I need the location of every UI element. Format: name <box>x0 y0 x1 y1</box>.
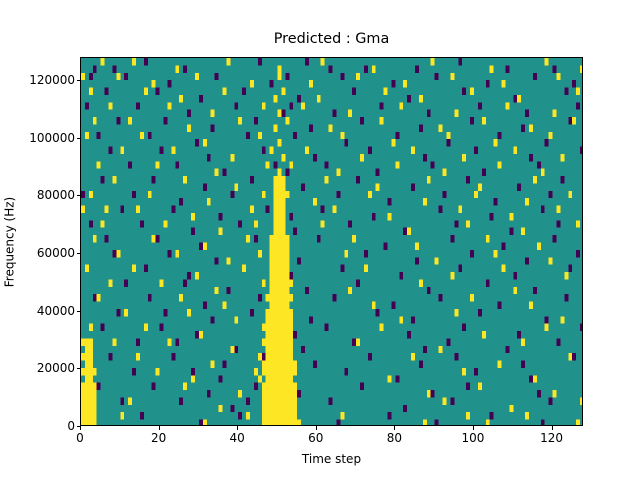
x-tick-mark <box>237 426 238 430</box>
y-tick-label: 120000 <box>29 73 75 87</box>
matplotlib-figure: Predicted : Gma 020406080100120020000400… <box>0 0 640 480</box>
y-tick-mark <box>77 426 81 427</box>
y-tick-mark <box>77 80 81 81</box>
y-tick-mark <box>77 253 81 254</box>
y-tick-label: 20000 <box>37 361 75 375</box>
y-tick-label: 100000 <box>29 131 75 145</box>
x-tick-mark <box>159 426 160 430</box>
page-title: Predicted : Gma <box>80 30 583 48</box>
x-axis-label: Time step <box>80 452 583 466</box>
y-tick-mark <box>77 195 81 196</box>
x-tick-mark <box>316 426 317 430</box>
y-tick-label: 60000 <box>37 246 75 260</box>
y-tick-label: 80000 <box>37 188 75 202</box>
x-tick-mark <box>552 426 553 430</box>
x-tick-label: 60 <box>308 431 323 445</box>
y-tick-label: 40000 <box>37 304 75 318</box>
x-tick-mark <box>80 426 81 430</box>
heatmap-image <box>81 58 583 426</box>
x-tick-label: 80 <box>387 431 402 445</box>
x-tick-label: 40 <box>230 431 245 445</box>
x-tick-label: 20 <box>151 431 166 445</box>
y-tick-label: 0 <box>67 419 75 433</box>
x-tick-mark <box>473 426 474 430</box>
heatmap-axes[interactable] <box>80 57 583 426</box>
x-tick-label: 100 <box>462 431 485 445</box>
y-tick-mark <box>77 138 81 139</box>
x-tick-mark <box>394 426 395 430</box>
y-axis-label-text: Frequency (Hz) <box>2 196 16 287</box>
y-tick-mark <box>77 311 81 312</box>
x-tick-label: 0 <box>76 431 84 445</box>
x-tick-label: 120 <box>540 431 563 445</box>
y-axis-label: Frequency (Hz) <box>0 57 18 426</box>
y-tick-mark <box>77 368 81 369</box>
